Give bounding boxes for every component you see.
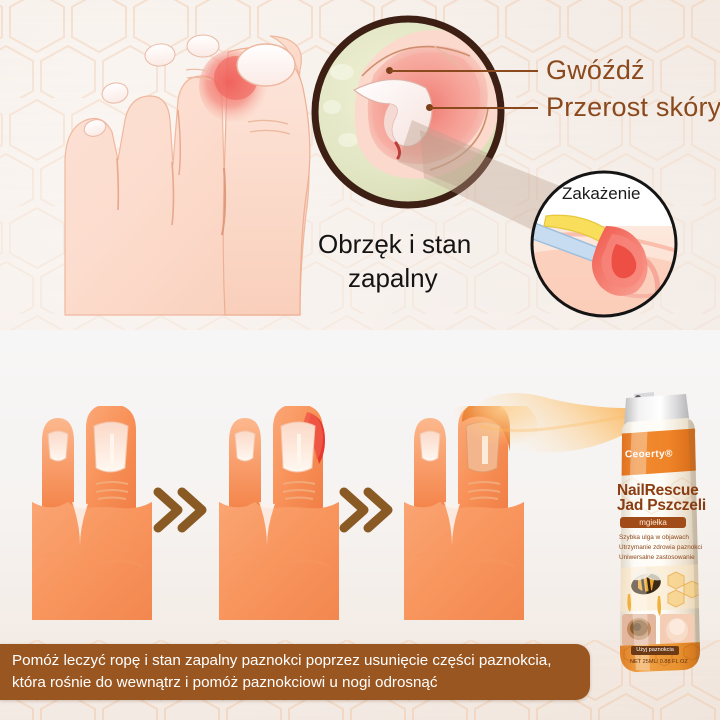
swelling-label-line2: zapalny <box>348 262 438 295</box>
bottle-name-line2: Jad Pszczeli <box>617 498 706 514</box>
foot-with-inflamed-big-toe <box>0 0 340 340</box>
caption-bar: Pomóż leczyć ropę i stan zapalny paznokc… <box>0 644 590 700</box>
bottle-use-pill: Użyj paznokcia <box>631 646 679 655</box>
progression-arrow-1 <box>152 486 210 534</box>
infection-inset-title: Zakażenie <box>562 184 640 204</box>
callout-line-nail <box>390 70 538 72</box>
swelling-label-line1: Obrzęk i stan <box>318 228 471 261</box>
callout-label-nail: Gwóźdź <box>546 55 645 86</box>
bottle-bullet-1: Szybka ulga w objawach <box>619 533 689 542</box>
bottle-net-weight: NET 25ML/ 0.88 FL OZ <box>630 659 688 665</box>
caption-text: Pomóż leczyć ropę i stan zapalny paznokc… <box>12 650 578 694</box>
bottle-bullet-3: Uniwersalne zastosowanie <box>619 553 695 562</box>
progression-arrow-2 <box>338 486 396 534</box>
bottle-bullet-2: Utrzymanie zdrowia paznokci <box>619 543 702 552</box>
callout-line-skin <box>430 107 538 109</box>
bottle-form-pill: mgiełka <box>620 517 686 528</box>
bottle-brand: Ceoerty® <box>625 449 673 461</box>
callout-label-skin: Przerost skóry <box>546 92 720 123</box>
infographic-canvas: Gwóźdź Przerost skóry Obrzęk i stan zapa… <box>0 0 720 720</box>
